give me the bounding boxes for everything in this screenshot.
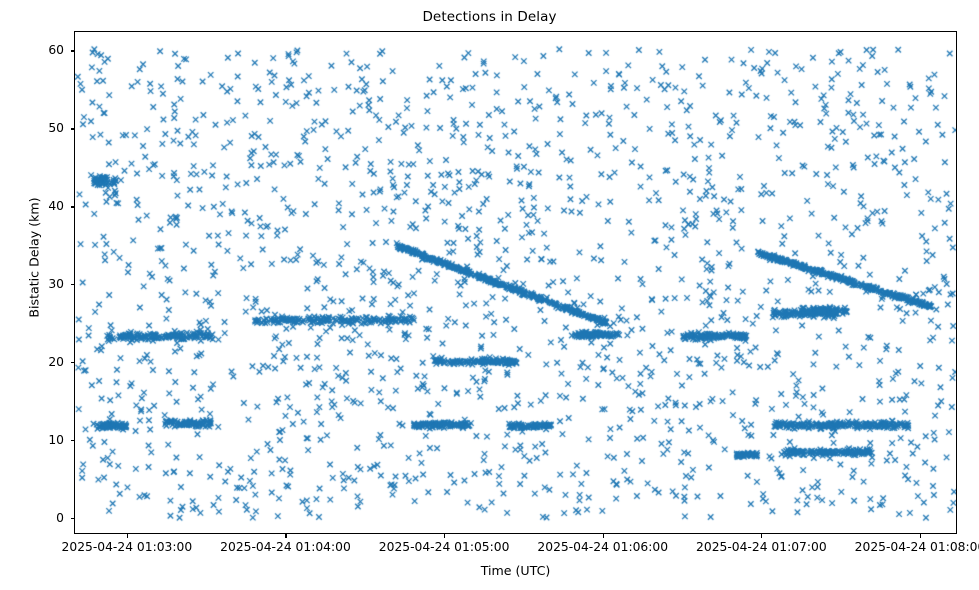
x-tick-label: 2025-04-24 01:06:00 xyxy=(537,540,668,554)
plot-area xyxy=(74,31,957,534)
x-tick-mark xyxy=(920,534,921,538)
y-tick-label: 60 xyxy=(18,43,64,57)
x-tick-mark xyxy=(603,534,604,538)
y-tick-mark xyxy=(71,440,75,441)
y-tick-mark xyxy=(71,206,75,207)
x-tick-label: 2025-04-24 01:03:00 xyxy=(62,540,193,554)
y-tick-mark xyxy=(71,284,75,285)
y-tick-mark xyxy=(71,362,75,363)
y-tick-mark xyxy=(71,518,75,519)
page-title: Detections in Delay xyxy=(0,9,979,25)
chart-figure: Detections in Delay 2025-04-24 01:03:002… xyxy=(0,0,979,590)
y-tick-label: 0 xyxy=(18,511,64,525)
y-tick-mark xyxy=(71,128,75,129)
x-tick-mark xyxy=(127,534,128,538)
scatter-plot-canvas xyxy=(75,32,957,534)
y-tick-mark xyxy=(71,50,75,51)
y-tick-label: 10 xyxy=(18,433,64,447)
x-tick-mark xyxy=(444,534,445,538)
x-tick-label: 2025-04-24 01:07:00 xyxy=(696,540,827,554)
x-tick-label: 2025-04-24 01:04:00 xyxy=(220,540,351,554)
x-tick-mark xyxy=(285,534,286,538)
x-tick-label: 2025-04-24 01:05:00 xyxy=(379,540,510,554)
x-tick-label: 2025-04-24 01:08:00 xyxy=(855,540,979,554)
y-axis-label: Bistatic Delay (km) xyxy=(27,118,42,398)
x-tick-mark xyxy=(761,534,762,538)
x-axis-label: Time (UTC) xyxy=(74,563,957,578)
